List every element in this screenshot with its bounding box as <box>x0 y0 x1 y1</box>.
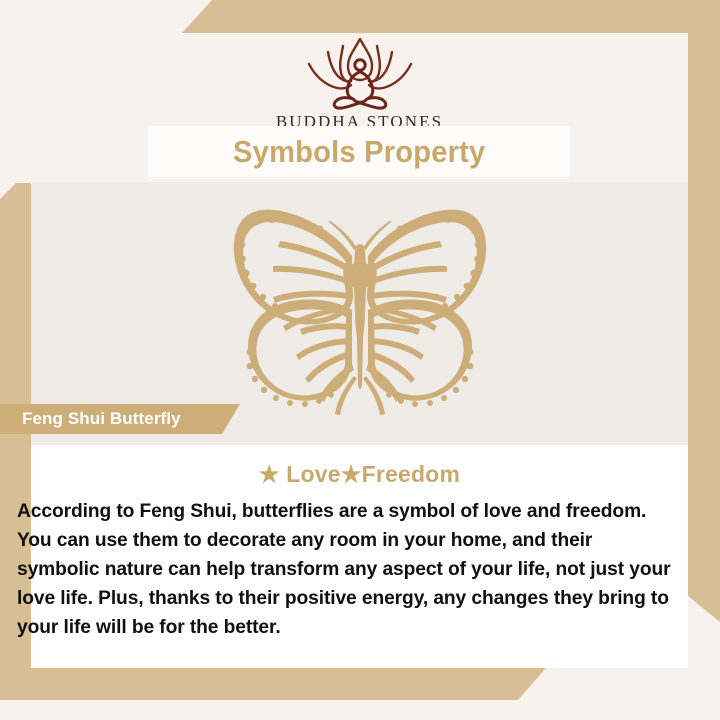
category-ribbon-label: Feng Shui Butterfly <box>22 409 181 429</box>
header: BUDDHA STONES Symbols Property <box>31 33 688 182</box>
frame-accent-top <box>182 0 720 33</box>
lotus-meditation-icon <box>285 33 435 111</box>
description-subheading: ★ Love★Freedom <box>31 461 688 488</box>
description-panel: ★ Love★Freedom According to Feng Shui, b… <box>31 445 688 668</box>
page-title-box: Symbols Property <box>148 126 570 177</box>
frame-accent-right <box>688 12 720 622</box>
frame-accent-bottom <box>0 668 546 700</box>
brand-logo: BUDDHA STONES <box>31 33 688 132</box>
poster-root: BUDDHA STONES Symbols Property <box>0 0 720 720</box>
category-ribbon: Feng Shui Butterfly <box>0 404 240 434</box>
butterfly-icon <box>195 198 525 416</box>
page-title: Symbols Property <box>233 134 485 170</box>
description-paragraph: According to Feng Shui, butterflies are … <box>17 497 681 642</box>
